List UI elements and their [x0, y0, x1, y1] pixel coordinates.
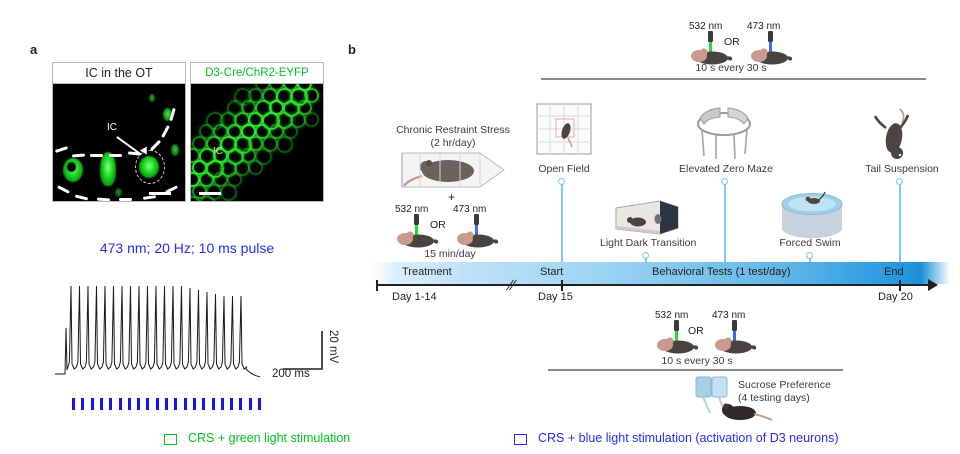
connector-dot-light-dark	[642, 252, 649, 259]
stimulation-caption: 473 nm; 20 Hz; 10 ms pulse	[62, 240, 312, 256]
microscopy-right: D3-Cre/ChR2-EYFP IC	[190, 62, 324, 202]
pulse-mark	[249, 398, 252, 410]
panel-a-letter: a	[30, 42, 37, 57]
pulse-mark	[193, 398, 196, 410]
timeline-tick-day15	[561, 280, 563, 291]
pulse-mark	[221, 398, 224, 410]
zero-maze-icon	[692, 104, 756, 165]
legend-swatch-green	[164, 434, 177, 445]
behavior-label-tail-suspension: Tail Suspension	[856, 163, 948, 175]
microscopy-left: IC in the OT	[52, 62, 186, 202]
neuron-cell-outline	[248, 160, 263, 175]
legend-swatch-blue	[514, 434, 527, 445]
microscopy-right-ic-label: IC	[213, 146, 223, 157]
pulse-mark	[165, 398, 168, 410]
sucrose-title: Sucrose Preference	[738, 379, 868, 391]
microscopy-left-image: IC	[53, 84, 185, 201]
legend: CRS + green light stimulation CRS + blue…	[150, 430, 940, 450]
panel-b-letter: b	[348, 42, 356, 57]
timeline-axis	[376, 284, 936, 286]
stim-bottom-bracket	[548, 369, 843, 371]
neuron-cell-outline	[220, 184, 237, 201]
mouse-blue-stim-bottom-icon	[712, 320, 758, 359]
microscopy-right-title: D3-Cre/ChR2-EYFP	[191, 63, 323, 84]
pulse-train	[72, 398, 262, 410]
timeline-day-15: Day 15	[538, 291, 573, 303]
pulse-mark	[230, 398, 233, 410]
microscopy-panels: IC in the OT	[52, 62, 324, 202]
timeline-label-behavioral-tests: Behavioral Tests (1 test/day)	[652, 266, 791, 278]
pulse-mark	[137, 398, 140, 410]
pulse-mark	[91, 398, 94, 410]
legend-label-green: CRS + green light stimulation	[188, 431, 350, 445]
scale-bar-x-label: 200 ms	[272, 368, 310, 380]
connector-open-field	[561, 183, 563, 262]
connector-dot-zero-maze	[721, 178, 728, 185]
stim-top-schedule: 10 s every 30 s	[661, 62, 801, 74]
legend-label-blue: CRS + blue light stimulation (activation…	[538, 431, 839, 445]
connector-zero-maze	[724, 183, 726, 262]
microscopy-left-scalebar	[149, 192, 171, 195]
behavior-label-open-field: Open Field	[524, 163, 604, 175]
restraint-tube-icon	[396, 150, 510, 195]
microscopy-right-image: IC	[191, 84, 323, 201]
stim-bottom-schedule: 10 s every 30 s	[627, 355, 767, 367]
stim-top-bracket	[541, 78, 926, 80]
scale-bar-y-label: 20 mV	[327, 330, 339, 363]
sucrose-subtitle: (4 testing days)	[738, 392, 868, 404]
pulse-mark	[239, 398, 242, 410]
pulse-mark	[146, 398, 149, 410]
scale-bar	[282, 330, 328, 370]
timeline-label-treatment: Treatment	[402, 266, 452, 278]
behavior-label-forced-swim: Forced Swim	[768, 237, 852, 249]
connector-dot-open-field	[558, 178, 565, 185]
pulse-mark	[72, 398, 75, 410]
microscopy-right-scalebar	[199, 192, 221, 195]
pulse-mark	[100, 398, 103, 410]
connector-dot-tail-suspension	[896, 178, 903, 185]
light-dark-box-icon	[614, 198, 680, 241]
pulse-mark	[119, 398, 122, 410]
timeline-arrow-icon	[928, 279, 938, 291]
mouse-green-stim-bottom-icon	[654, 320, 700, 359]
pulse-mark	[202, 398, 205, 410]
neuron-cell-outline	[276, 136, 293, 153]
microscopy-left-title: IC in the OT	[53, 63, 185, 84]
timeline-day-20: Day 20	[878, 291, 913, 303]
pulse-mark	[128, 398, 131, 410]
pulse-mark	[184, 398, 187, 410]
tail-suspension-icon	[872, 108, 916, 167]
open-field-icon	[536, 103, 592, 160]
ephys-trace	[55, 272, 260, 390]
timeline-tick-start	[376, 280, 378, 291]
neuron-cell-outline	[304, 112, 319, 127]
microscopy-left-ic-label: IC	[107, 122, 117, 133]
connector-dot-forced-swim	[806, 252, 813, 259]
crs-subtitle: (2 hr/day)	[378, 137, 528, 149]
pulse-mark	[174, 398, 177, 410]
timeline-label-start: Start	[540, 266, 563, 278]
behavior-label-zero-maze: Elevated Zero Maze	[676, 163, 776, 175]
pulse-mark	[212, 398, 215, 410]
pulse-mark	[109, 398, 112, 410]
timeline-day-1-14: Day 1-14	[392, 291, 437, 303]
behavior-label-light-dark: Light Dark Transition	[600, 237, 696, 249]
crs-title: Chronic Restraint Stress	[378, 124, 528, 136]
connector-tail-suspension	[899, 183, 901, 262]
pulse-mark	[81, 398, 84, 410]
timeline-tick-day20	[899, 280, 901, 291]
pulse-mark	[258, 398, 261, 410]
timeline-label-end: End	[884, 266, 904, 278]
crs-duration: 15 min/day	[385, 248, 515, 260]
pulse-mark	[156, 398, 159, 410]
crs-plus-symbol: +	[448, 190, 455, 204]
